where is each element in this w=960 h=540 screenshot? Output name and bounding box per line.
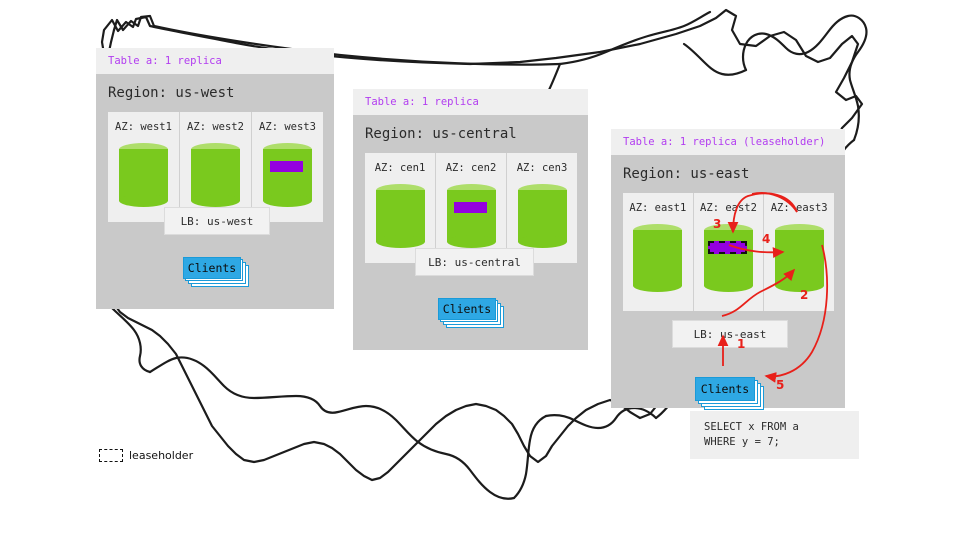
az-label-cen3: AZ: cen3 [517,162,568,174]
az-label-west3: AZ: west3 [259,121,316,133]
clients-us-west[interactable]: Clients [183,257,249,287]
panel-header-us-east: Table a: 1 replica (leaseholder) [611,129,845,155]
load-balancer-us-central[interactable]: LB: us-central [415,248,534,276]
region-title-us-west: Region: us-west [96,74,334,101]
replica-cylinder-cen3[interactable] [518,184,567,248]
sql-query-box: SELECT x FROM a WHERE y = 7; [690,411,859,459]
region-panel-us-west: Table a: 1 replica Region: us-west AZ: w… [96,48,334,309]
arrow-number-5: 5 [776,378,784,392]
az-cell-west3[interactable]: AZ: west3 [252,112,323,222]
az-label-west2: AZ: west2 [187,121,244,133]
arrow-number-3: 3 [713,217,721,231]
clients-label-us-east: Clients [695,377,755,401]
az-cell-east2[interactable]: AZ: east2 [694,193,765,311]
panel-header-us-west: Table a: 1 replica [96,48,334,74]
arrow-number-2: 2 [800,288,808,302]
az-label-cen2: AZ: cen2 [446,162,497,174]
az-cell-cen1[interactable]: AZ: cen1 [365,153,436,263]
az-row-us-central: AZ: cen1 AZ: cen2 [365,153,577,263]
az-cell-cen2[interactable]: AZ: cen2 [436,153,507,263]
replica-cylinder-cen1[interactable] [376,184,425,248]
replica-cylinder-east3[interactable] [775,224,824,292]
legend-label: leaseholder [129,449,193,462]
az-label-east3: AZ: east3 [771,202,828,214]
load-balancer-us-east[interactable]: LB: us-east [672,320,788,348]
leaseholder-marker-east2 [708,241,747,254]
replica-cylinder-west1[interactable] [119,143,168,207]
az-label-cen1: AZ: cen1 [375,162,426,174]
clients-label-us-central: Clients [438,298,496,320]
leaseholder-marker-west3 [270,161,303,172]
region-panel-us-central: Table a: 1 replica Region: us-central AZ… [353,89,588,350]
leaseholder-marker-cen2 [454,202,487,213]
az-cell-cen3[interactable]: AZ: cen3 [507,153,577,263]
arrow-number-1: 1 [737,337,745,351]
region-panel-us-east: Table a: 1 replica (leaseholder) Region:… [611,129,845,408]
diagram-canvas: Table a: 1 replica Region: us-west AZ: w… [0,0,960,540]
legend: leaseholder [99,449,193,462]
az-cell-west2[interactable]: AZ: west2 [180,112,252,222]
az-label-east2: AZ: east2 [700,202,757,214]
arrow-number-4: 4 [762,232,770,246]
region-title-us-east: Region: us-east [611,155,845,182]
az-label-west1: AZ: west1 [115,121,172,133]
clients-us-central[interactable]: Clients [438,298,504,328]
az-label-east1: AZ: east1 [629,202,686,214]
clients-label-us-west: Clients [183,257,241,279]
panel-header-us-central: Table a: 1 replica [353,89,588,115]
replica-cylinder-east2[interactable] [704,224,753,292]
leaseholder-dashed-rect-icon [99,449,123,462]
clients-us-east[interactable]: Clients [695,377,765,409]
az-row-us-west: AZ: west1 AZ: west2 AZ [108,112,323,222]
replica-cylinder-cen2[interactable] [447,184,496,248]
replica-cylinder-west3[interactable] [263,143,312,207]
region-title-us-central: Region: us-central [353,115,588,142]
az-cell-east1[interactable]: AZ: east1 [623,193,694,311]
load-balancer-us-west[interactable]: LB: us-west [164,207,270,235]
replica-cylinder-west2[interactable] [191,143,240,207]
az-cell-west1[interactable]: AZ: west1 [108,112,180,222]
replica-cylinder-east1[interactable] [633,224,682,292]
